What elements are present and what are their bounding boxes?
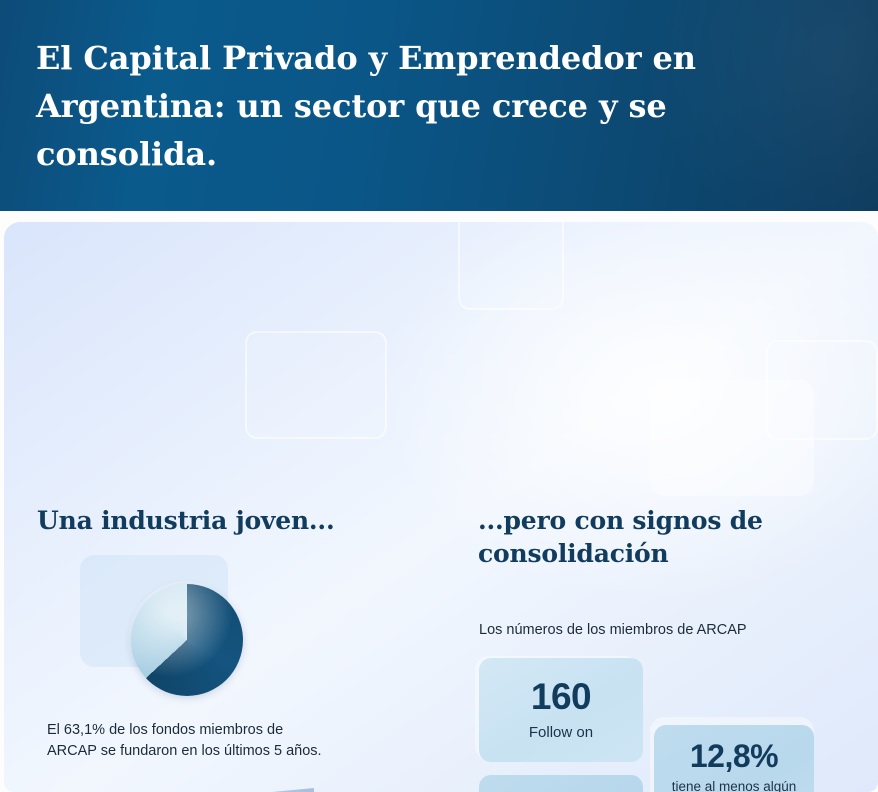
decor-card-topright: [650, 380, 814, 496]
stat-follow-on-label: Follow on: [529, 724, 593, 742]
infographic-root: El Capital Privado y Emprendedor en Arge…: [0, 0, 878, 792]
stat-card-exits: 61 Exits: [479, 775, 643, 792]
pie-chart: [131, 584, 243, 696]
pie-caption: El 63,1% de los fondos miembros de ARCAP…: [47, 720, 407, 762]
pie-slices: [131, 584, 243, 696]
left-section-heading: Una industria joven...: [37, 505, 437, 538]
stat-card-follow-on: 160 Follow on: [479, 658, 643, 762]
stat-closed-fund-value: 12,8%: [690, 740, 778, 772]
stat-closed-fund-label: tiene al menos algún fondo cerrado.: [672, 779, 797, 792]
stat-follow-on-value: 160: [531, 678, 591, 715]
decor-outline-right: [766, 340, 878, 440]
decor-outline-left: [245, 331, 387, 439]
stat-card-closed-fund-pct: 12,8% tiene al menos algún fondo cerrado…: [654, 725, 814, 792]
right-section-heading: ...pero con signos de consolidación: [478, 505, 848, 570]
right-section-subtitle: Los números de los miembros de ARCAP: [479, 620, 859, 641]
content-panel: Una industria joven... El 63,1% de los f…: [4, 222, 878, 792]
decor-outline-top: [458, 222, 564, 310]
header-banner: El Capital Privado y Emprendedor en Arge…: [0, 0, 878, 211]
page-title: El Capital Privado y Emprendedor en Arge…: [36, 34, 776, 178]
bubble-connector-ribbon: [50, 782, 314, 792]
